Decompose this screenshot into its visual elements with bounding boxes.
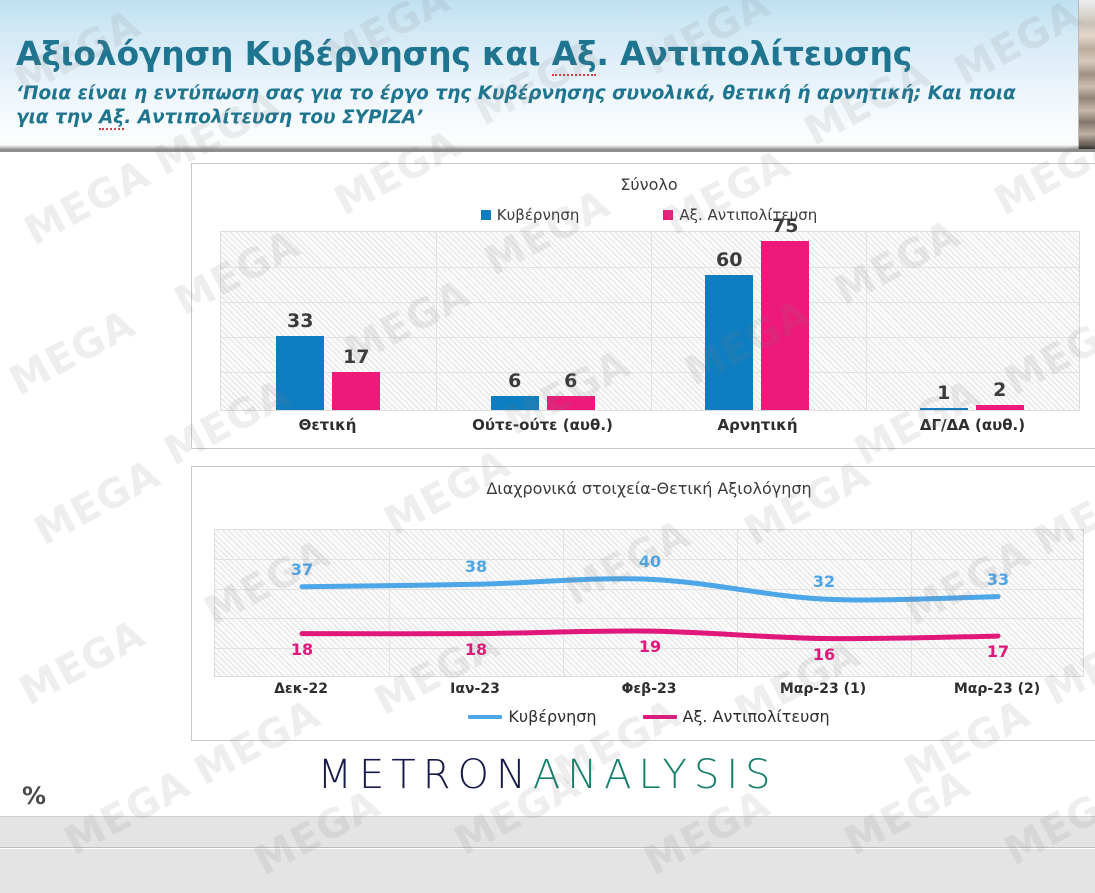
bottom-band-lower [0, 849, 1095, 893]
bar-chart-category-label: ΔΓ/ΔΑ (αυθ.) [865, 416, 1080, 434]
line-point-value-label: 17 [987, 642, 1009, 661]
bar-groups: 331766607512 [221, 232, 1079, 410]
bar-wrap-government: 33 [276, 232, 324, 410]
bar-wrap-opposition: 2 [976, 232, 1024, 410]
slide-header: Αξιολόγηση Κυβέρνησης και Αξ. Αντιπολίτε… [0, 0, 1095, 152]
bar-opposition[interactable] [761, 241, 809, 410]
watermark-text: MEGA [12, 611, 153, 715]
line-chart-category-label: Ιαν-23 [388, 681, 562, 697]
line-point-value-label: 33 [987, 570, 1009, 589]
bar-wrap-government: 6 [491, 232, 539, 410]
line-point-value-label: 16 [813, 645, 835, 664]
bar-value-label: 33 [287, 310, 313, 332]
page-subtitle-spellcheck: Αξ [99, 107, 124, 130]
page-subtitle-line-2: για την Αξ. Αντιπολίτευση του ΣΥΡΙΖΑ’ [16, 106, 1056, 130]
legend-item-government[interactable]: Κυβέρνηση [468, 707, 596, 726]
page-subtitle: ‘Ποια είναι η εντύπωση σας για το έργο τ… [16, 82, 1056, 130]
bar-chart-title: Σύνολο [192, 175, 1095, 194]
line-point-value-label: 19 [639, 637, 661, 656]
bar-value-label: 1 [937, 382, 950, 404]
page-title-post: . Αντιπολίτευσης [596, 34, 912, 73]
logo-metron-text: METRON [317, 752, 532, 798]
bar-opposition[interactable] [332, 372, 380, 410]
line-chart-category-label: Μαρ-23 (1) [736, 681, 910, 697]
line-chart-category-label: Φεβ-23 [562, 681, 736, 697]
legend-swatch-government [481, 210, 491, 220]
logo-analysis-text: ANALYSIS [533, 752, 778, 798]
legend-line-opposition [643, 715, 677, 719]
bar-opposition[interactable] [976, 405, 1024, 410]
legend-label-government: Κυβέρνηση [508, 707, 596, 726]
bar-chart-category-labels: ΘετικήΟύτε-ούτε (αυθ.)ΑρνητικήΔΓ/ΔΑ (αυθ… [220, 416, 1080, 434]
bar-value-label: 60 [716, 249, 742, 271]
watermark-text: MEGA [27, 451, 168, 555]
legend-item-opposition[interactable]: Αξ. Αντιπολίτευση [643, 707, 830, 726]
bar-government[interactable] [705, 275, 753, 410]
line-chart-category-label: Δεκ-22 [214, 681, 388, 697]
legend-line-government [468, 715, 502, 719]
header-photo-strip [1078, 0, 1095, 149]
line-chart-title: Διαχρονικά στοιχεία-Θετική Αξιολόγηση [192, 479, 1095, 498]
percent-unit-label: % [22, 782, 46, 810]
bar-value-label: 6 [508, 370, 521, 392]
line-series-government[interactable] [302, 579, 998, 600]
bar-value-label: 2 [993, 379, 1006, 401]
bar-value-label: 6 [564, 370, 577, 392]
bar-chart-panel: Σύνολο Κυβέρνηση Αξ. Αντιπολίτευση 33176… [191, 163, 1095, 449]
bar-wrap-opposition: 17 [332, 232, 380, 410]
slide-canvas: Αξιολόγηση Κυβέρνησης και Αξ. Αντιπολίτε… [0, 0, 1095, 893]
line-chart-plot-area: 37384032331818191617 [214, 529, 1084, 677]
legend-swatch-opposition [663, 210, 673, 220]
bar-group: 3317 [221, 232, 436, 410]
bar-group: 12 [865, 232, 1080, 410]
bar-group: 6075 [650, 232, 865, 410]
bar-opposition[interactable] [547, 396, 595, 410]
bar-government[interactable] [276, 336, 324, 410]
page-title: Αξιολόγηση Κυβέρνησης και Αξ. Αντιπολίτε… [16, 34, 912, 73]
line-chart-legend: Κυβέρνηση Αξ. Αντιπολίτευση [192, 707, 1095, 726]
bar-wrap-opposition: 75 [761, 232, 809, 410]
line-point-value-label: 38 [465, 557, 487, 576]
page-subtitle-line-2-post: . Αντιπολίτευση του ΣΥΡΙΖΑ’ [124, 107, 423, 128]
legend-label-government: Κυβέρνηση [497, 206, 580, 224]
bar-wrap-opposition: 6 [547, 232, 595, 410]
bar-wrap-government: 1 [920, 232, 968, 410]
line-point-value-label: 18 [465, 640, 487, 659]
line-point-value-label: 32 [813, 572, 835, 591]
watermark-text: MEGA [17, 151, 158, 255]
line-chart-panel: Διαχρονικά στοιχεία-Θετική Αξιολόγηση 37… [191, 466, 1095, 741]
bar-chart-category-label: Αρνητική [650, 416, 865, 434]
page-title-spellcheck: Αξ [552, 34, 597, 76]
page-subtitle-line-2-pre: για την [16, 107, 99, 128]
bar-chart-category-label: Ούτε-ούτε (αυθ.) [435, 416, 650, 434]
line-point-value-label: 18 [291, 640, 313, 659]
bar-chart-plot-area: 331766607512 [220, 231, 1080, 411]
bar-wrap-government: 60 [705, 232, 753, 410]
bar-chart-category-label: Θετική [220, 416, 435, 434]
line-chart-category-label: Μαρ-23 (2) [910, 681, 1084, 697]
legend-item-government[interactable]: Κυβέρνηση [481, 206, 580, 224]
line-point-value-label: 40 [639, 552, 661, 571]
bar-chart-legend: Κυβέρνηση Αξ. Αντιπολίτευση [192, 206, 1095, 224]
bar-government[interactable] [491, 396, 539, 410]
page-title-pre: Αξιολόγηση Κυβέρνησης και [16, 34, 552, 73]
watermark-text: MEGA [2, 301, 143, 405]
bar-value-label: 75 [772, 215, 798, 237]
page-subtitle-line-1: ‘Ποια είναι η εντύπωση σας για το έργο τ… [16, 82, 1056, 106]
bar-value-label: 17 [343, 346, 369, 368]
legend-label-opposition: Αξ. Αντιπολίτευση [683, 707, 830, 726]
line-point-value-label: 37 [291, 560, 313, 579]
metron-analysis-logo: METRONANALYSIS [0, 752, 1095, 798]
bar-government[interactable] [920, 408, 968, 410]
bar-group: 66 [436, 232, 651, 410]
bottom-band-upper [0, 816, 1095, 848]
line-chart-category-labels: Δεκ-22Ιαν-23Φεβ-23Μαρ-23 (1)Μαρ-23 (2) [214, 681, 1084, 697]
